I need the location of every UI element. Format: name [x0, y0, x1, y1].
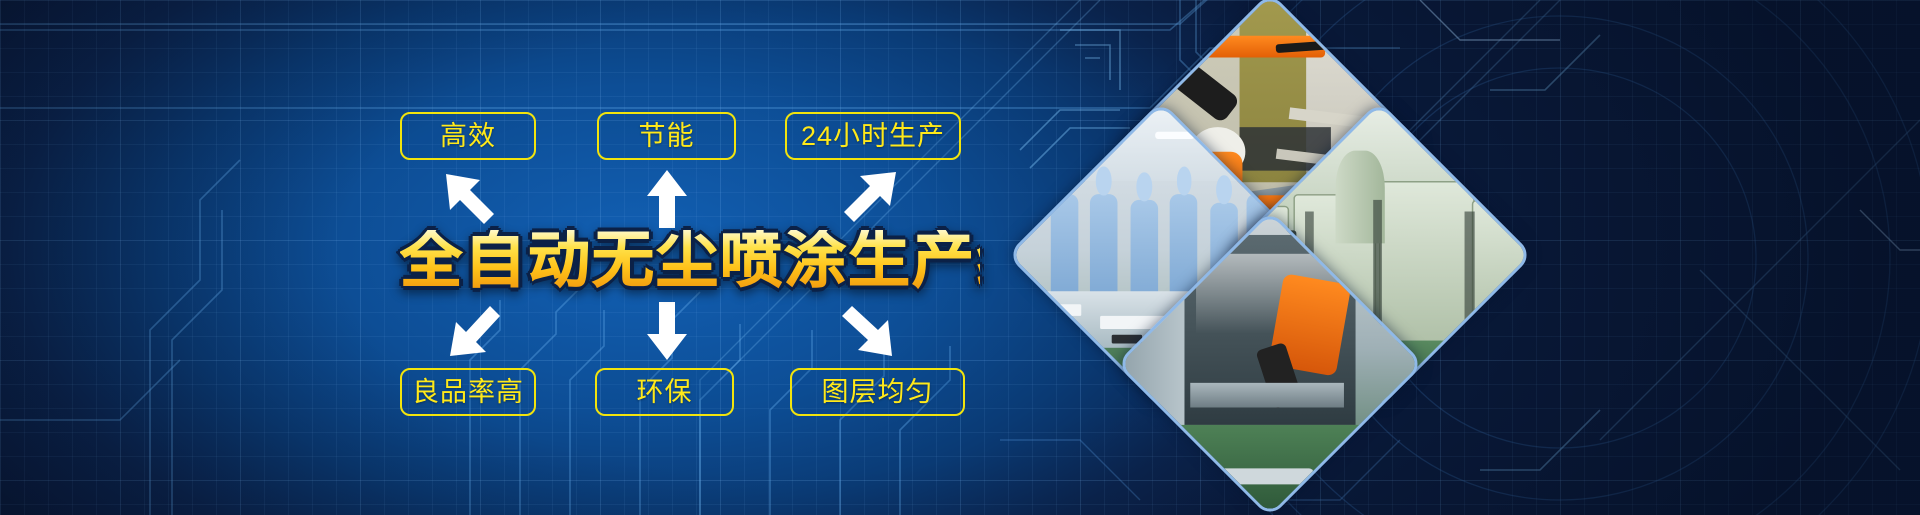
feature-chip-efficiency[interactable]: 高效: [400, 112, 536, 160]
page-title: 全自动无尘喷涂生产线: [400, 230, 980, 292]
arrow-down-icon: [645, 300, 689, 362]
feature-diagram: 高效 节能 24小时生产 良品率高 环保 图层均匀: [0, 0, 1020, 515]
feature-chip-label: 环保: [637, 379, 693, 406]
arrow-down-right-icon: [836, 300, 898, 362]
arrow-up-right-icon: [840, 168, 902, 230]
feature-chip-energy-saving[interactable]: 节能: [597, 112, 736, 160]
feature-chip-label: 高效: [440, 123, 496, 150]
promo-banner: 高效 节能 24小时生产 良品率高 环保 图层均匀: [0, 0, 1920, 515]
arrow-up-left-icon: [440, 168, 500, 230]
feature-chip-high-yield[interactable]: 良品率高: [400, 368, 536, 416]
arrow-down-left-icon: [444, 300, 504, 362]
feature-chip-label: 良品率高: [412, 379, 524, 406]
feature-chip-eco-friendly[interactable]: 环保: [595, 368, 734, 416]
feature-chip-label: 图层均匀: [822, 379, 934, 406]
feature-chip-label: 24小时生产: [801, 123, 945, 150]
arrow-up-icon: [645, 168, 689, 230]
photo-collage: [1055, 40, 1485, 476]
feature-chip-label: 节能: [639, 123, 695, 150]
feature-chip-24h-production[interactable]: 24小时生产: [785, 112, 961, 160]
feature-chip-uniform-coating[interactable]: 图层均匀: [790, 368, 965, 416]
